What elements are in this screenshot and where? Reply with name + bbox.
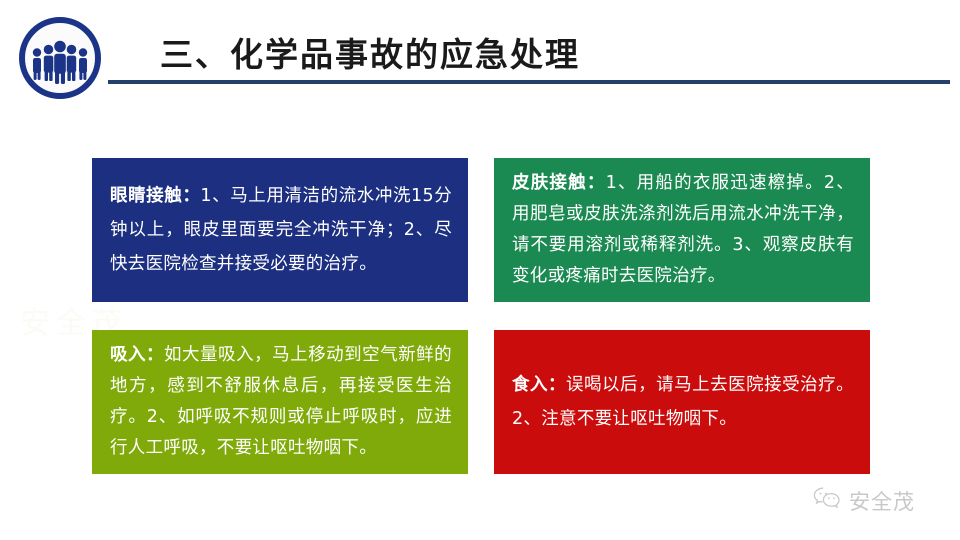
ingestion-label: 食入： (512, 375, 566, 395)
eye-contact-label: 眼睛接触： (110, 186, 200, 206)
inhalation-text: 吸入：如大量吸入，马上移动到空气新鲜的地方，感到不舒服休息后，再接受医生治疗。2… (110, 340, 452, 464)
wechat-watermark-label: 安全茂 (849, 486, 915, 516)
emergency-procedure-panels: 眼睛接触：1、马上用清洁的流水冲洗15分钟以上，眼皮里面要完全冲洗干净；2、尽快… (0, 0, 960, 540)
wechat-watermark: 安全茂 (812, 486, 915, 516)
inhalation-label: 吸入： (110, 345, 164, 365)
skin-contact-panel: 皮肤接触：1、用船的衣服迅速檫掉。2、用肥皂或皮肤洗涤剂洗后用流水冲洗干净，请不… (494, 158, 870, 302)
inhalation-panel: 吸入：如大量吸入，马上移动到空气新鲜的地方，感到不舒服休息后，再接受医生治疗。2… (92, 330, 468, 474)
ingestion-text: 食入：误喝以后，请马上去医院接受治疗。2、注意不要让呕吐物咽下。 (512, 368, 854, 436)
skin-contact-label: 皮肤接触： (512, 173, 606, 193)
eye-contact-text: 眼睛接触：1、马上用清洁的流水冲洗15分钟以上，眼皮里面要完全冲洗干净；2、尽快… (110, 179, 452, 281)
eye-contact-panel: 眼睛接触：1、马上用清洁的流水冲洗15分钟以上，眼皮里面要完全冲洗干净；2、尽快… (92, 158, 468, 302)
wechat-icon (812, 486, 842, 516)
skin-contact-text: 皮肤接触：1、用船的衣服迅速檫掉。2、用肥皂或皮肤洗涤剂洗后用流水冲洗干净，请不… (512, 168, 854, 292)
ingestion-panel: 食入：误喝以后，请马上去医院接受治疗。2、注意不要让呕吐物咽下。 (494, 330, 870, 474)
